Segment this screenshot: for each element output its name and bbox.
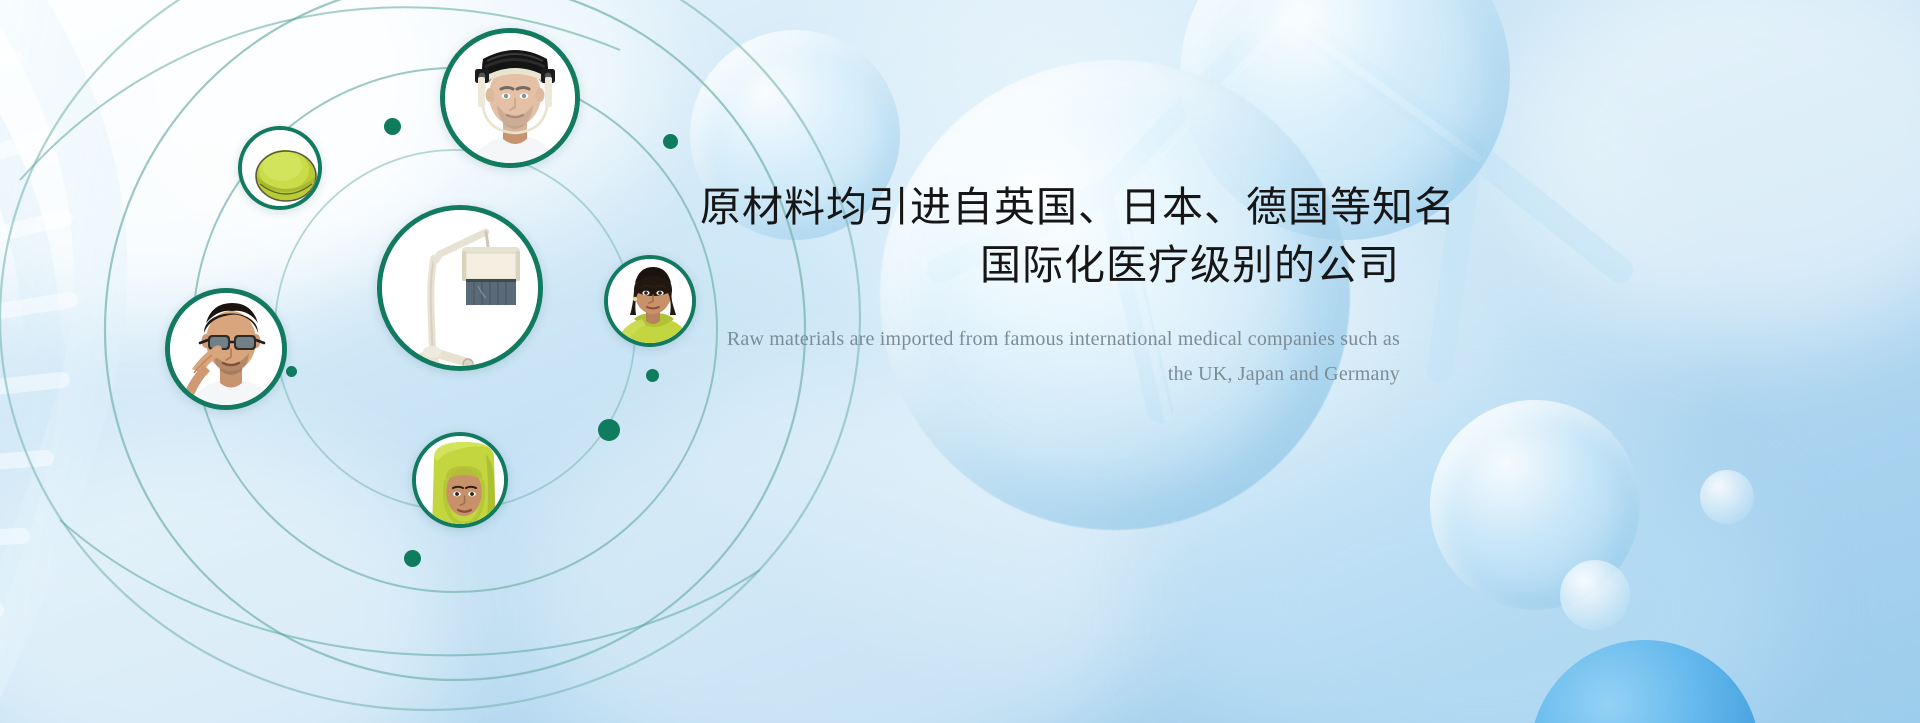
photo-inner <box>445 33 575 163</box>
subtitle: Raw materials are imported from famous i… <box>700 322 1400 391</box>
orbit-dot <box>646 369 659 382</box>
thyroid-collar-illustration <box>608 259 692 343</box>
lead-glasses-illustration <box>170 293 282 405</box>
subtitle-line-2: the UK, Japan and Germany <box>700 357 1400 391</box>
photo-inner <box>242 130 318 206</box>
orbit-dot <box>663 134 678 149</box>
orbit-dot <box>286 366 297 377</box>
orbit-dot <box>598 419 620 441</box>
lead-cap-illustration <box>242 130 318 206</box>
headline-line-2: 国际化医疗级别的公司 <box>700 236 1400 294</box>
headline-line-1: 原材料均引进自英国、日本、德国等知名 <box>700 184 1456 230</box>
mobile-barrier-illustration <box>382 210 538 366</box>
product-photo-lead-cap[interactable] <box>238 126 322 210</box>
photo-inner <box>382 210 538 366</box>
subtitle-line-1: Raw materials are imported from famous i… <box>727 328 1400 350</box>
photo-inner <box>416 436 504 524</box>
headline: 原材料均引进自英国、日本、德国等知名 国际化医疗级别的公司 <box>700 178 1400 294</box>
product-photo-mobile-barrier[interactable] <box>377 205 543 371</box>
orbit-dot <box>404 550 421 567</box>
lead-hood-illustration <box>416 436 504 524</box>
face-shield-illustration <box>445 33 575 163</box>
product-photo-lead-hood[interactable] <box>412 432 508 528</box>
banner-stage: 原材料均引进自英国、日本、德国等知名 国际化医疗级别的公司 Raw materi… <box>0 0 1920 723</box>
product-photo-lead-glasses[interactable] <box>165 288 287 410</box>
banner-copy: 原材料均引进自英国、日本、德国等知名 国际化医疗级别的公司 Raw materi… <box>700 178 1400 391</box>
photo-inner <box>608 259 692 343</box>
photo-inner <box>170 293 282 405</box>
product-photo-face-shield[interactable] <box>440 28 580 168</box>
orbit-dot <box>384 118 401 135</box>
product-photo-thyroid-collar[interactable] <box>604 255 696 347</box>
